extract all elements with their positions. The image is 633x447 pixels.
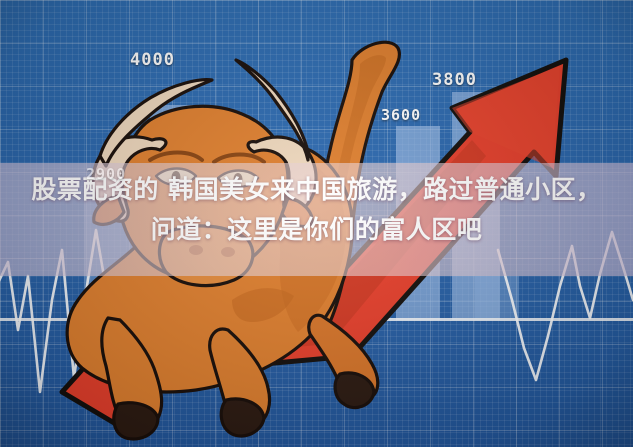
illustration-canvas: 4000 3800 3600 (0, 0, 633, 447)
vignette-overlay (0, 0, 633, 447)
value-label-2900: 2900 (86, 165, 126, 183)
